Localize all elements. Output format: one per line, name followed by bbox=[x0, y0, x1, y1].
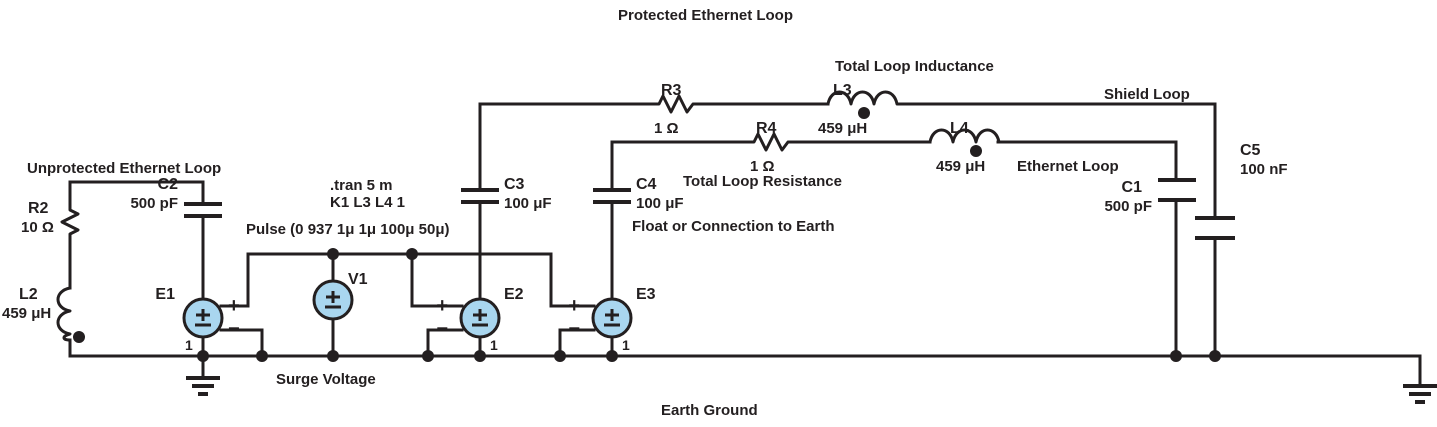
e3-pin: 1 bbox=[622, 337, 630, 353]
node-ground-c1 bbox=[1170, 350, 1182, 362]
c2-value: 500 pF bbox=[130, 195, 178, 212]
node-ground-e1 bbox=[197, 350, 209, 362]
component-e2: E2 + − 1 bbox=[333, 248, 524, 356]
l4-value: 459 μH bbox=[936, 158, 985, 175]
node-ground-c5 bbox=[1209, 350, 1221, 362]
e2-plus: + bbox=[436, 295, 448, 317]
earth-ground-symbol-right bbox=[1403, 386, 1437, 402]
r4-ref: R4 bbox=[756, 120, 777, 137]
l2-ref: L2 bbox=[19, 286, 38, 303]
component-c5: C5 100 nF bbox=[1195, 142, 1288, 238]
circuit-schematic: Protected Ethernet Loop R3 1 Ω L3 459 μH… bbox=[0, 0, 1437, 427]
surge-voltage-label: Surge Voltage bbox=[276, 371, 376, 388]
l4-ref: L4 bbox=[950, 120, 969, 137]
e1-ref: E1 bbox=[155, 286, 175, 303]
c5-value: 100 nF bbox=[1240, 161, 1288, 178]
l2-dot bbox=[73, 331, 85, 343]
e2-minus: − bbox=[436, 318, 448, 340]
coupling-directive: K1 L3 L4 1 bbox=[330, 194, 405, 211]
component-v1: V1 bbox=[314, 248, 368, 356]
c4-value: 100 μF bbox=[636, 195, 684, 212]
node-ground-e2-neg bbox=[422, 350, 434, 362]
component-l2: L2 459 μH bbox=[2, 286, 85, 343]
c5-ref: C5 bbox=[1240, 142, 1261, 159]
c3-ref: C3 bbox=[504, 176, 525, 193]
ethernet-loop-label: Ethernet Loop bbox=[1017, 158, 1119, 175]
component-r3: R3 1 Ω bbox=[654, 82, 700, 137]
c3-value: 100 μF bbox=[504, 195, 552, 212]
r2-value: 10 Ω bbox=[21, 219, 54, 236]
total-loop-resistance-label: Total Loop Resistance bbox=[683, 173, 842, 190]
component-r2: R2 10 Ω bbox=[21, 200, 78, 238]
pulse-directive: Pulse (0 937 1μ 1μ 100μ 50μ) bbox=[246, 221, 450, 238]
c2-ref: C2 bbox=[158, 176, 179, 193]
float-connection-label: Float or Connection to Earth bbox=[632, 218, 835, 235]
node-ground-e3-neg bbox=[554, 350, 566, 362]
r3-ref: R3 bbox=[661, 82, 682, 99]
e1-pin: 1 bbox=[185, 337, 193, 353]
v1-ref: V1 bbox=[348, 271, 368, 288]
e3-ref: E3 bbox=[636, 286, 656, 303]
l3-value: 459 μH bbox=[818, 120, 867, 137]
e2-pin: 1 bbox=[490, 337, 498, 353]
earth-ground-label: Earth Ground bbox=[661, 402, 758, 419]
l4-dot bbox=[970, 145, 982, 157]
component-c1: C1 500 pF bbox=[1104, 179, 1196, 215]
c1-ref: C1 bbox=[1122, 179, 1143, 196]
tran-directive: .tran 5 m bbox=[330, 177, 393, 194]
node-ground-e3 bbox=[606, 350, 618, 362]
e2-ref: E2 bbox=[504, 286, 524, 303]
c1-value: 500 pF bbox=[1104, 198, 1152, 215]
diagram-title: Protected Ethernet Loop bbox=[618, 7, 793, 24]
e1-plus: + bbox=[228, 295, 240, 317]
component-c3: C3 100 μF bbox=[461, 176, 552, 212]
node-ground-e1-neg bbox=[256, 350, 268, 362]
unprotected-loop-label: Unprotected Ethernet Loop bbox=[27, 160, 221, 177]
total-loop-inductance-label: Total Loop Inductance bbox=[835, 58, 994, 75]
node-ground-e2 bbox=[474, 350, 486, 362]
r3-value: 1 Ω bbox=[654, 120, 679, 137]
l2-value: 459 μH bbox=[2, 305, 51, 322]
c4-ref: C4 bbox=[636, 176, 657, 193]
node-ground-v1 bbox=[327, 350, 339, 362]
shield-loop-label: Shield Loop bbox=[1104, 86, 1190, 103]
r2-ref: R2 bbox=[28, 200, 49, 217]
e3-plus: + bbox=[568, 295, 580, 317]
l3-ref: L3 bbox=[833, 82, 852, 99]
e3-minus: − bbox=[568, 318, 580, 340]
component-e1: E1 + − 1 bbox=[155, 254, 333, 356]
l3-dot bbox=[858, 107, 870, 119]
component-l4: L4 459 μH Ethernet Loop bbox=[930, 120, 1119, 175]
e1-minus: − bbox=[228, 318, 240, 340]
